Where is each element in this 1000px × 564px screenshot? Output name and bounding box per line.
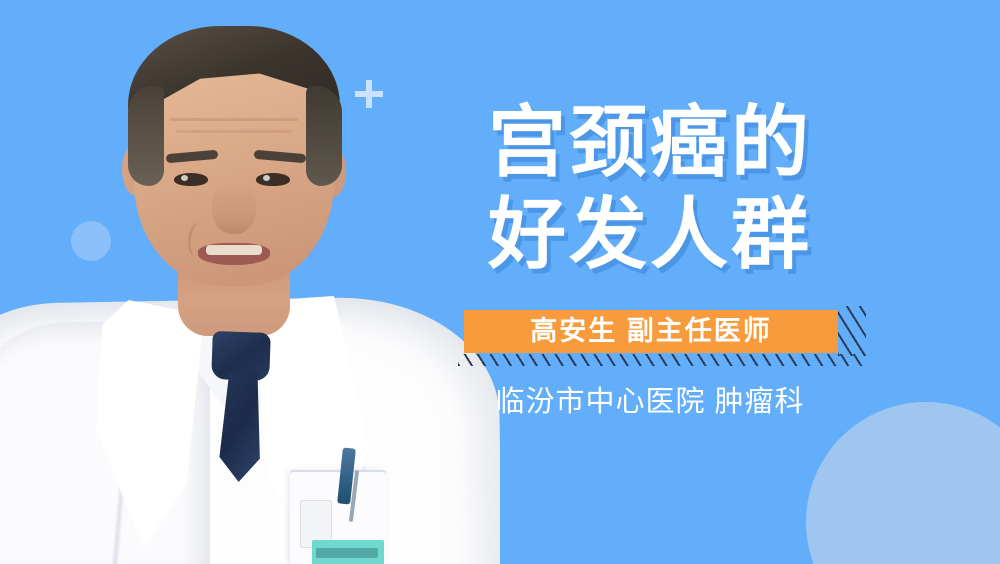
title-line-1: 宫颈癌的: [440, 96, 860, 188]
poster-canvas: 宫颈癌的 好发人群 高安生 副主任医师 临汾市中心医院 肿瘤科: [0, 0, 1000, 564]
eye-right: [256, 173, 290, 186]
doctor-portrait-image: [0, 0, 500, 564]
forehead-wrinkle-secondary: [176, 130, 292, 133]
eye-highlight-left: [181, 175, 188, 181]
doctor-name-and-title: 高安生 副主任医师: [530, 318, 772, 345]
poster-title: 宫颈癌的 好发人群: [440, 96, 860, 280]
nose: [212, 182, 256, 234]
eye-highlight-right: [263, 175, 270, 181]
forehead-wrinkle: [170, 118, 298, 121]
hair-sideburn-right: [306, 86, 342, 186]
hair-sideburn-left: [128, 86, 164, 186]
id-badge-text-strip: [316, 548, 378, 558]
doctor-name-bar: 高安生 副主任医师: [464, 310, 838, 353]
doctor-affiliation: 临汾市中心医院 肿瘤科: [440, 378, 860, 420]
diagonal-hatch-bottom-icon: [458, 354, 866, 366]
eye-left: [174, 173, 208, 186]
title-line-2: 好发人群: [440, 188, 860, 280]
diagonal-hatch-right-icon: [838, 306, 866, 356]
teeth: [206, 245, 262, 255]
